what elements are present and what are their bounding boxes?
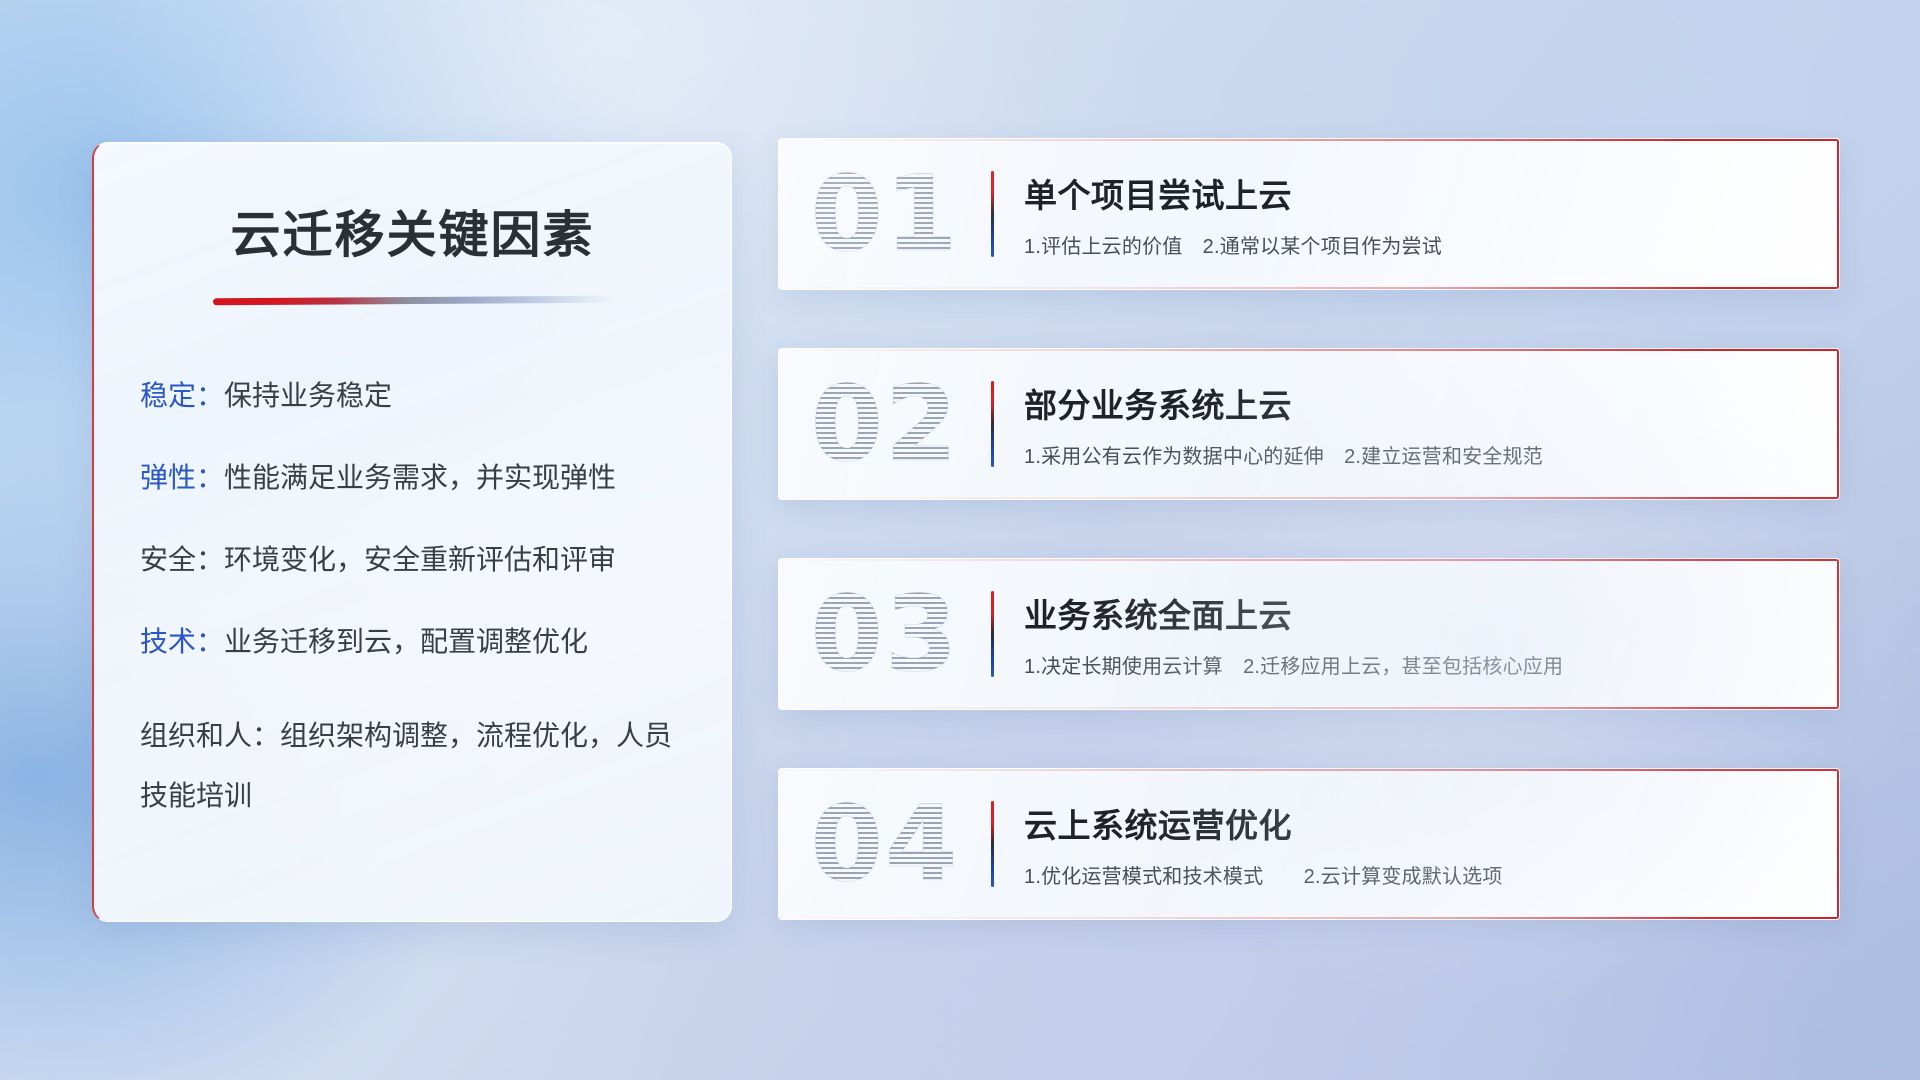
stage-title: 业务系统全面上云	[1024, 589, 1839, 637]
list-item: 稳定：保持业务稳定	[140, 378, 685, 413]
factor-label: 技术：	[140, 626, 224, 657]
factor-label: 稳定：	[140, 380, 224, 411]
factor-value: 环境变化，安全重新评估和评审	[224, 544, 616, 575]
stage-card-04[interactable]: 04 04 云上系统运营优化 1.优化运营模式和技术模式 2.云计算变成默认选项	[778, 768, 1840, 920]
list-item: 组织和人：组织架构调整，流程优化，人员技能培训	[140, 706, 685, 826]
factor-label: 组织和人：	[140, 720, 280, 751]
stage-text-block: 云上系统运营优化 1.优化运营模式和技术模式 2.云计算变成默认选项	[994, 799, 1839, 889]
factor-value: 业务迁移到云，配置调整优化	[224, 626, 588, 657]
key-factors-panel: 云迁移关键因素 稳定：保持业务稳定 弹性：性能满足业务需求，并实现弹性 安全：环…	[92, 142, 732, 922]
factor-value: 保持业务稳定	[224, 380, 392, 411]
stage-text-block: 业务系统全面上云 1.决定长期使用云计算 2.迁移应用上云，甚至包括核心应用	[994, 589, 1839, 679]
stage-card-01[interactable]: 01 01 单个项目尝试上云 1.评估上云的价值 2.通常以某个项目作为尝试	[778, 138, 1840, 290]
migration-stage-list: 01 01 单个项目尝试上云 1.评估上云的价值 2.通常以某个项目作为尝试 0…	[778, 138, 1840, 978]
list-item: 技术：业务迁移到云，配置调整优化	[140, 624, 685, 659]
stage-number-02: 02 02	[779, 349, 991, 499]
page-title: 云迁移关键因素	[94, 195, 731, 267]
list-item: 弹性：性能满足业务需求，并实现弹性	[140, 460, 685, 495]
stage-title: 单个项目尝试上云	[1024, 169, 1839, 217]
stage-number-01: 01 01	[779, 139, 991, 289]
stage-description: 1.优化运营模式和技术模式 2.云计算变成默认选项	[1024, 860, 1839, 889]
stage-number-03: 03 03	[779, 559, 991, 709]
stage-card-03[interactable]: 03 03 业务系统全面上云 1.决定长期使用云计算 2.迁移应用上云，甚至包括…	[778, 558, 1840, 710]
stage-title: 部分业务系统上云	[1024, 379, 1839, 427]
factor-value: 性能满足业务需求，并实现弹性	[224, 462, 616, 493]
stage-text-block: 部分业务系统上云 1.采用公有云作为数据中心的延伸 2.建立运营和安全规范	[994, 379, 1839, 469]
stage-description: 1.评估上云的价值 2.通常以某个项目作为尝试	[1024, 230, 1839, 259]
stage-description: 1.决定长期使用云计算 2.迁移应用上云，甚至包括核心应用	[1024, 650, 1839, 679]
stage-number-striped: 04	[811, 792, 960, 896]
stage-number-striped: 01	[811, 162, 960, 266]
stage-title: 云上系统运营优化	[1024, 799, 1839, 847]
list-item: 安全：环境变化，安全重新评估和评审	[140, 542, 685, 577]
factor-label: 安全：	[140, 544, 224, 575]
key-factors-list: 稳定：保持业务稳定 弹性：性能满足业务需求，并实现弹性 安全：环境变化，安全重新…	[94, 378, 731, 826]
stage-description: 1.采用公有云作为数据中心的延伸 2.建立运营和安全规范	[1024, 440, 1839, 469]
stage-number-striped: 03	[811, 582, 960, 686]
stage-number-04: 04 04	[779, 769, 991, 919]
title-underline-rule	[213, 296, 613, 305]
stage-number-striped: 02	[811, 372, 960, 476]
slide-canvas: 云迁移关键因素 稳定：保持业务稳定 弹性：性能满足业务需求，并实现弹性 安全：环…	[0, 0, 1920, 1080]
stage-text-block: 单个项目尝试上云 1.评估上云的价值 2.通常以某个项目作为尝试	[994, 169, 1839, 259]
stage-card-02[interactable]: 02 02 部分业务系统上云 1.采用公有云作为数据中心的延伸 2.建立运营和安…	[778, 348, 1840, 500]
factor-label: 弹性：	[140, 462, 224, 493]
